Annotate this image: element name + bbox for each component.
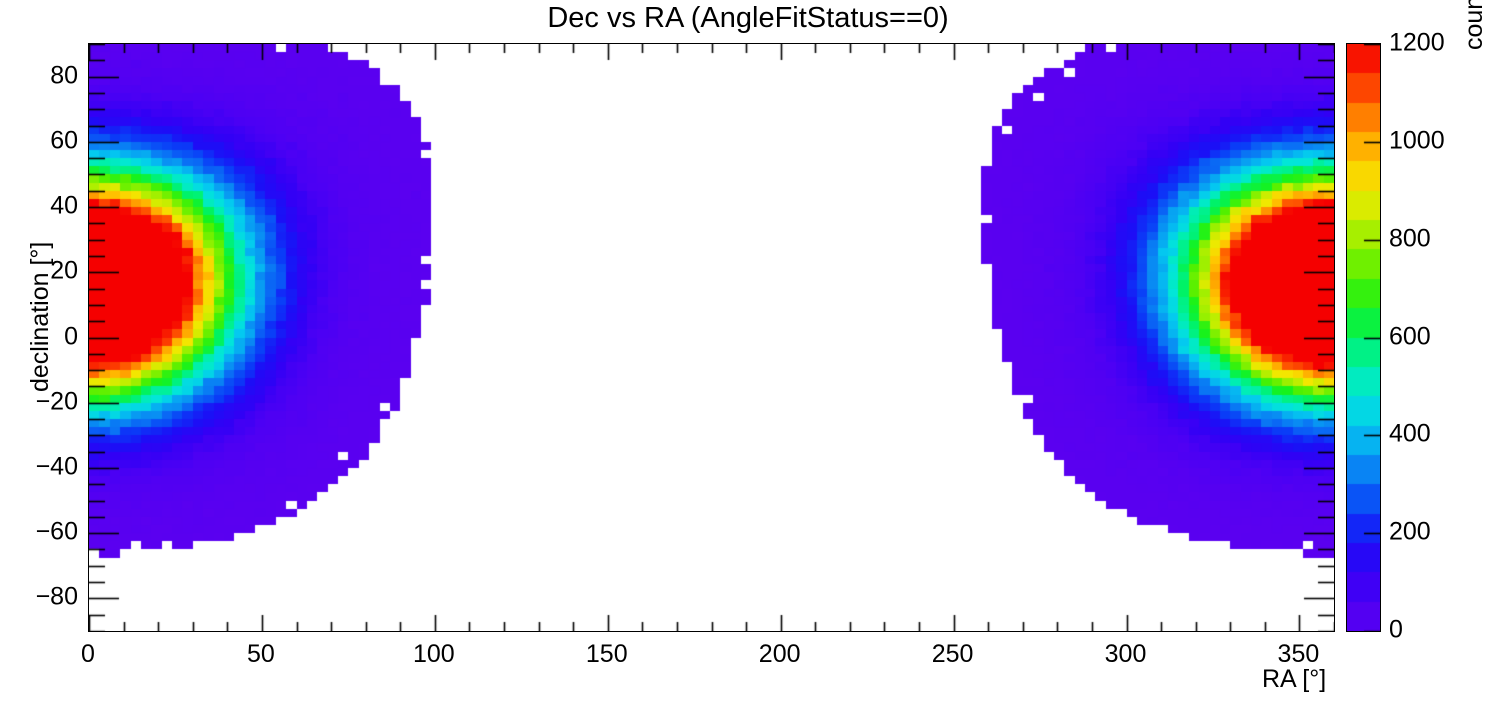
- x-tick-label-300: 300: [1105, 640, 1147, 669]
- page-title: Dec vs RA (AngleFitStatus==0): [0, 2, 1496, 35]
- y-tick-label-40: 40: [16, 192, 78, 221]
- x-tick-label-50: 50: [247, 640, 275, 669]
- x-tick-label-0: 0: [81, 640, 95, 669]
- z-tick-label-200: 200: [1389, 518, 1431, 547]
- x-axis-title: RA [°]: [1262, 665, 1492, 720]
- z-tick-label-400: 400: [1389, 420, 1431, 449]
- y-tick-label-80: 80: [16, 61, 78, 90]
- color-scale-bar: [1346, 43, 1381, 632]
- plot-frame: [88, 43, 1335, 632]
- z-tick-label-1000: 1000: [1389, 126, 1445, 155]
- z-tick-label-1200: 1200: [1389, 29, 1445, 58]
- histogram-heatmap: [89, 44, 1334, 631]
- z-tick-label-600: 600: [1389, 322, 1431, 351]
- plot-canvas-root: Dec vs RA (AngleFitStatus==0) 0501001502…: [0, 0, 1496, 722]
- z-tick-label-0: 0: [1389, 616, 1403, 645]
- y-tick-label-neg40: −40: [16, 452, 78, 481]
- x-tick-label-100: 100: [413, 640, 455, 669]
- z-axis-title: count: [1460, 0, 1489, 50]
- z-tick-label-800: 800: [1389, 224, 1431, 253]
- x-tick-label-200: 200: [759, 640, 801, 669]
- y-tick-label-neg80: −80: [16, 583, 78, 612]
- y-axis-title: declination [°]: [26, 242, 55, 392]
- x-tick-label-150: 150: [586, 640, 628, 669]
- x-tick-label-250: 250: [932, 640, 974, 669]
- y-tick-label-neg60: −60: [16, 518, 78, 547]
- color-scale-gradient: [1347, 44, 1380, 631]
- y-tick-label-60: 60: [16, 126, 78, 155]
